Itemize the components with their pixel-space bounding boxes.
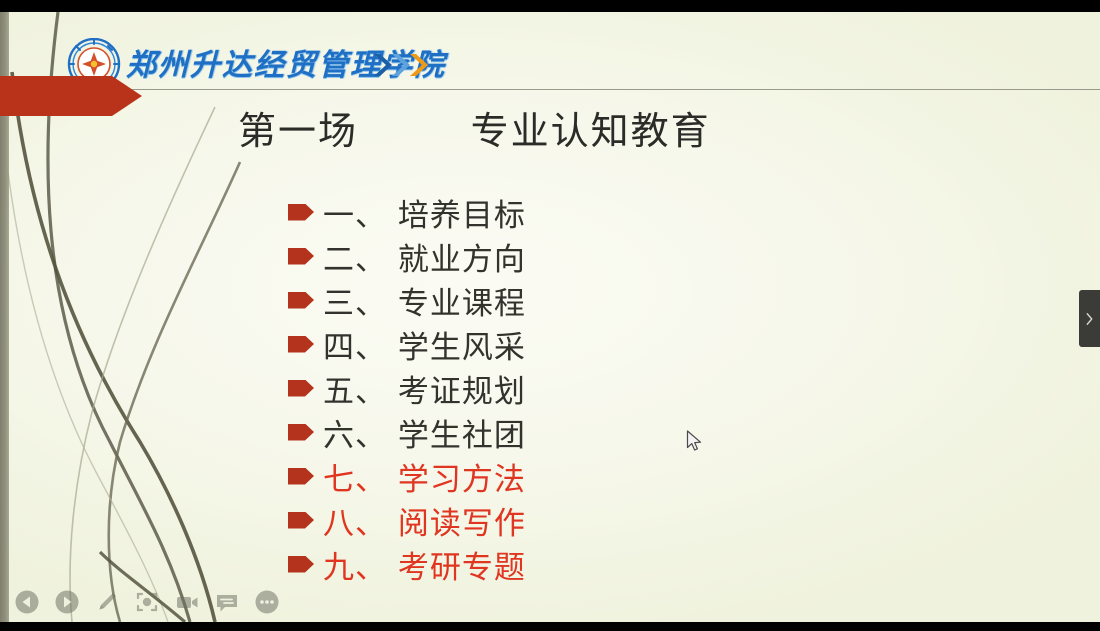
list-item-label: 六、 学生社团 (323, 410, 526, 455)
agenda-list: 一、 培养目标 二、 就业方向 三、 专业课程 四、 学生风采 五、 考证规划 (288, 190, 526, 586)
previous-slide-button[interactable] (14, 589, 40, 615)
arrow-pointer-icon (686, 430, 704, 454)
play-left-circle-icon (14, 589, 40, 615)
list-item-label: 一、 培养目标 (323, 190, 526, 235)
bullet-arrow-icon (288, 204, 314, 221)
right-drawer-toggle[interactable] (1079, 290, 1100, 347)
ellipsis-circle-icon (254, 589, 280, 615)
list-item[interactable]: 七、 学习方法 (288, 454, 526, 498)
list-item-label: 七、 学习方法 (323, 454, 526, 499)
screenshot-button[interactable] (134, 589, 160, 615)
list-item[interactable]: 五、 考证规划 (288, 366, 526, 410)
bullet-arrow-icon (288, 248, 314, 265)
letterbox-bottom-bar (0, 622, 1100, 631)
presentation-slide[interactable]: 郑州升达经贸管理学院 第一场 专业认知教育 一、 培养目标 二、 就业方向 (0, 12, 1100, 622)
list-item-label: 四、 学生风采 (323, 322, 526, 367)
player-toolbar (14, 582, 284, 622)
chat-bubble-icon (214, 589, 240, 615)
list-item-label: 二、 就业方向 (323, 234, 526, 279)
triple-chevron-right-icon (372, 50, 428, 80)
list-item-label: 九、 考研专题 (323, 542, 526, 587)
video-camera-icon (174, 589, 200, 615)
screen-root: 郑州升达经贸管理学院 第一场 专业认知教育 一、 培养目标 二、 就业方向 (0, 0, 1100, 631)
list-item-label: 五、 考证规划 (323, 366, 526, 411)
bullet-arrow-icon (288, 556, 314, 573)
list-item[interactable]: 四、 学生风采 (288, 322, 526, 366)
red-arrow-banner (0, 76, 142, 116)
bullet-arrow-icon (288, 380, 314, 397)
record-video-button[interactable] (174, 589, 200, 615)
list-item[interactable]: 九、 考研专题 (288, 542, 526, 586)
next-slide-button[interactable] (54, 589, 80, 615)
list-item[interactable]: 三、 专业课程 (288, 278, 526, 322)
slide-title: 第一场 专业认知教育 (238, 100, 711, 155)
annotate-pen-button[interactable] (94, 589, 120, 615)
bullet-arrow-icon (288, 512, 314, 529)
list-item[interactable]: 二、 就业方向 (288, 234, 526, 278)
pen-icon (94, 589, 120, 615)
bullet-arrow-icon (288, 468, 314, 485)
list-item[interactable]: 一、 培养目标 (288, 190, 526, 234)
list-item[interactable]: 六、 学生社团 (288, 410, 526, 454)
list-item-label: 三、 专业课程 (323, 278, 526, 323)
bullet-arrow-icon (288, 424, 314, 441)
chat-button[interactable] (214, 589, 240, 615)
header-divider (58, 89, 1100, 90)
chevron-right-icon (1085, 312, 1094, 326)
list-item-label: 八、 阅读写作 (323, 498, 526, 543)
bullet-arrow-icon (288, 292, 314, 309)
focus-frame-icon (134, 589, 160, 615)
bullet-arrow-icon (288, 336, 314, 353)
play-right-circle-icon (54, 589, 80, 615)
slide-header: 郑州升达经贸管理学院 (0, 12, 1100, 92)
list-item[interactable]: 八、 阅读写作 (288, 498, 526, 542)
more-options-button[interactable] (254, 589, 280, 615)
letterbox-top-bar (0, 0, 1100, 12)
